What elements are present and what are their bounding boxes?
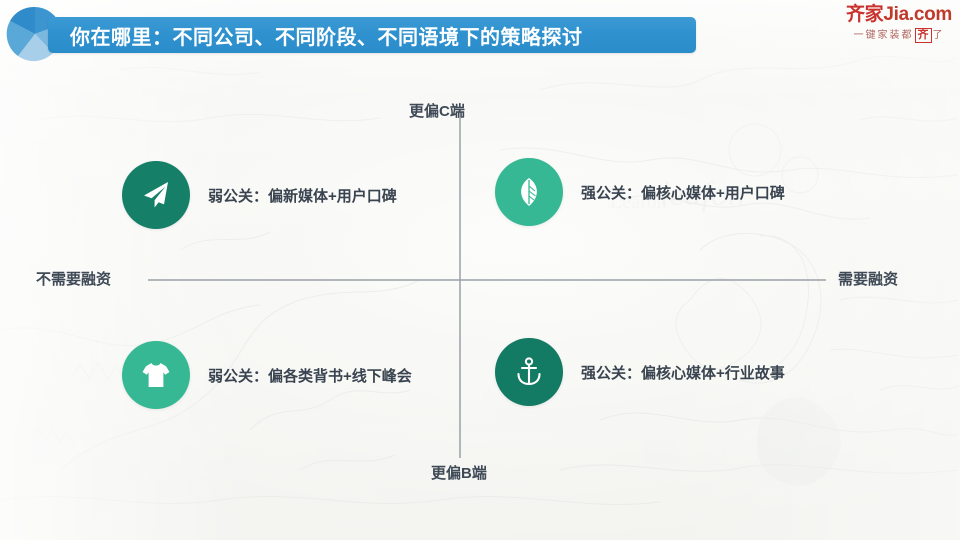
page-title: 你在哪里：不同公司、不同阶段、不同语境下的策略探讨 (48, 17, 696, 53)
slide-title-bar: 你在哪里：不同公司、不同阶段、不同语境下的策略探讨 (48, 17, 696, 53)
quadrant-text-bottom-right: 强公关：偏核心媒体+行业故事 (581, 362, 785, 383)
quadrant-item-top-right: 强公关：偏核心媒体+用户口碑 (495, 158, 785, 226)
background-sketch-watermark: leafon Leafon (0, 0, 960, 540)
axis-label-bottom: 更偏B端 (431, 462, 487, 483)
axis-label-right: 需要融资 (838, 268, 898, 289)
quadrant-text-top-left: 弱公关：偏新媒体+用户口碑 (208, 185, 397, 206)
logo-tagline-part1: 一键家装都 (854, 29, 914, 43)
brand-logo: 齐家Jia.com 一键家装都 齐 了 (842, 4, 956, 52)
anchor-icon (512, 355, 546, 389)
quadrant-item-top-left: 弱公关：偏新媒体+用户口碑 (122, 161, 397, 229)
quadrant-badge-top-right (495, 158, 563, 226)
quadrant-text-bottom-left: 弱公关：偏各类背书+线下峰会 (208, 365, 412, 386)
slide-canvas: leafon Leafon 你在哪里：不同公司、不同阶段、不同语境下的策略探讨 … (0, 0, 960, 540)
logo-tagline-part2: 了 (933, 29, 945, 43)
quadrant-badge-top-left (122, 161, 190, 229)
axis-label-top: 更偏C端 (409, 100, 465, 121)
paper-plane-icon (138, 177, 174, 213)
quadrant-badge-bottom-left (122, 341, 190, 409)
horizontal-axis-line (148, 279, 826, 281)
axis-label-left: 不需要融资 (36, 268, 111, 289)
tshirt-icon (139, 358, 173, 392)
quadrant-item-bottom-right: 强公关：偏核心媒体+行业故事 (495, 338, 785, 406)
quadrant-item-bottom-left: 弱公关：偏各类背书+线下峰会 (122, 341, 412, 409)
logo-tagline-boxed-char: 齐 (915, 28, 932, 43)
vertical-axis-line (459, 118, 461, 458)
logo-brand-cn: 齐家 (846, 4, 883, 25)
leaf-icon (512, 175, 546, 209)
quadrant-text-top-right: 强公关：偏核心媒体+用户口碑 (581, 182, 785, 203)
logo-brand-en: Jia.com (883, 4, 952, 25)
logo-tagline: 一键家装都 齐 了 (842, 28, 956, 43)
logo-brand-text: 齐家Jia.com (842, 4, 956, 26)
quadrant-badge-bottom-right (495, 338, 563, 406)
